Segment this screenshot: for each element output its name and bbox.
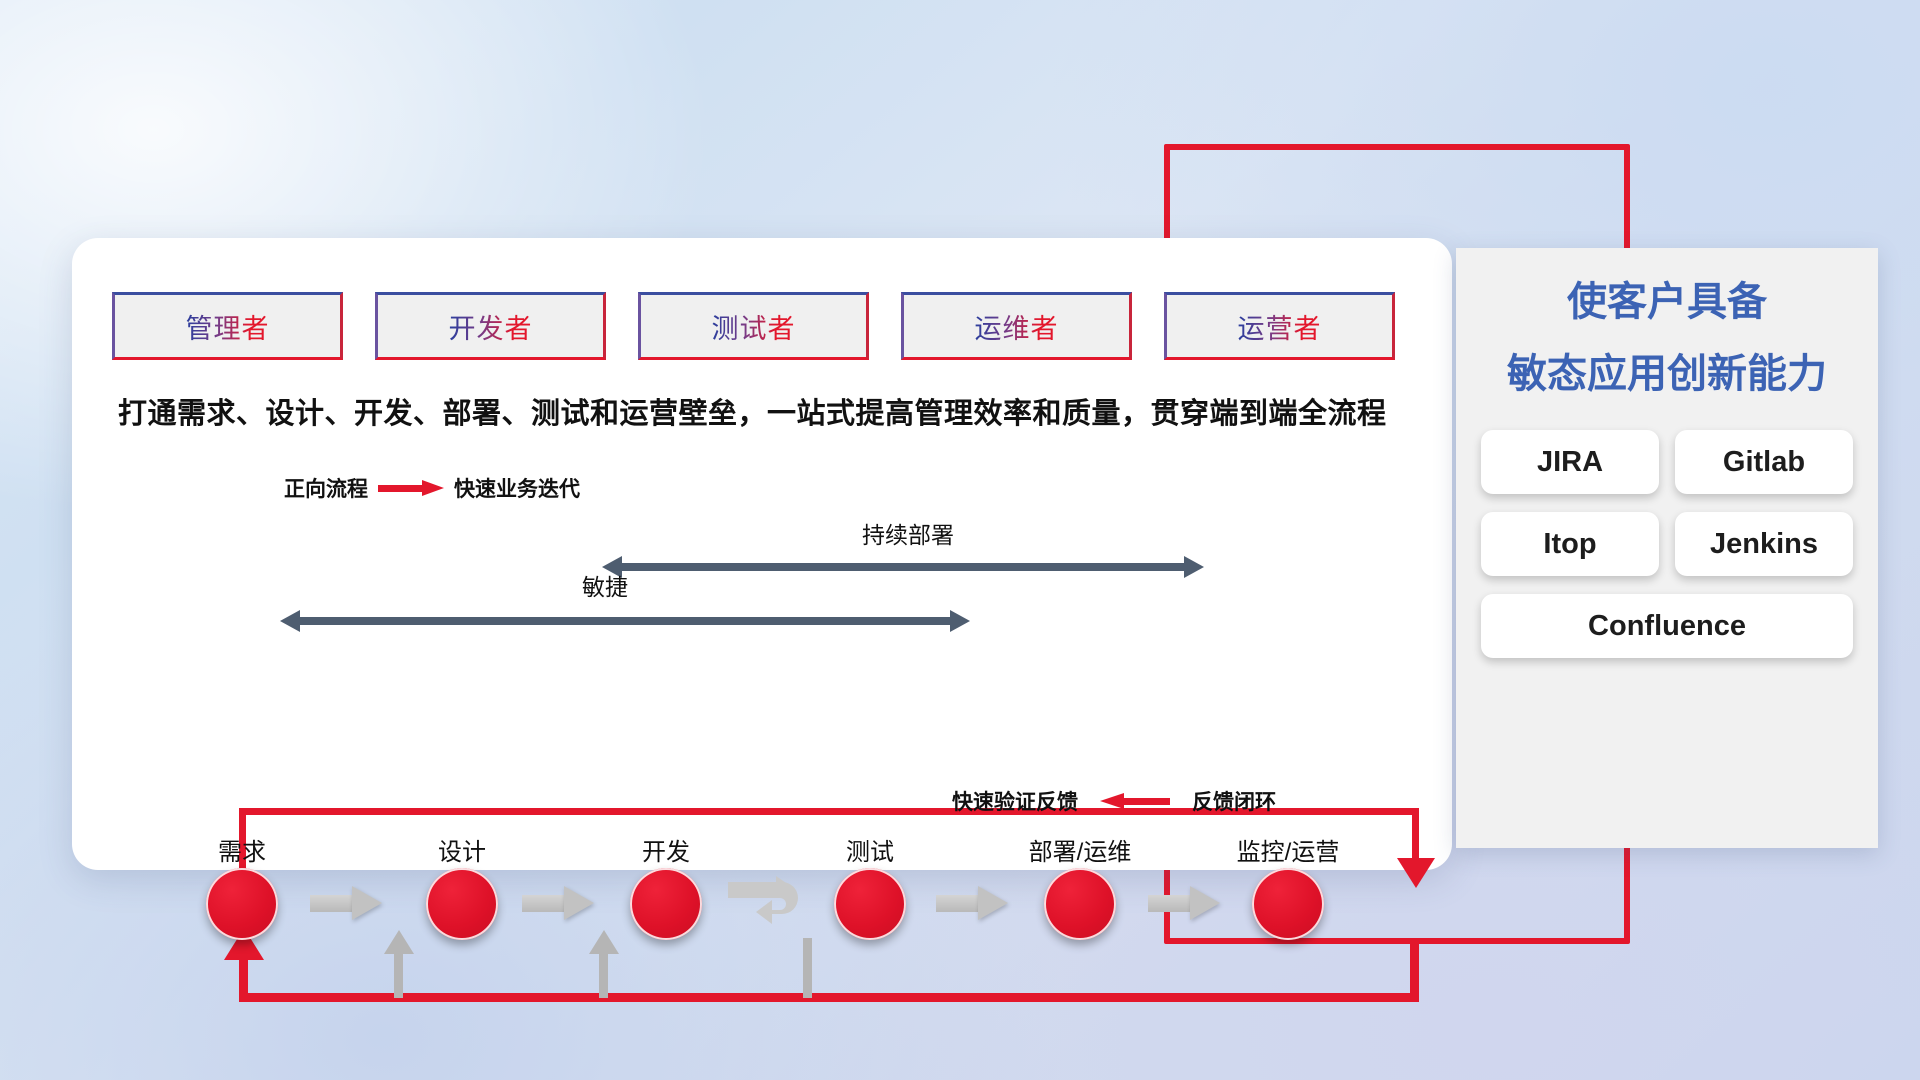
legend-forward-flow: 正向流程 快速业务迭代 [284, 473, 580, 503]
span-arrow-agile [280, 610, 970, 632]
outcome-title-line2: 敏态应用创新能力 [1456, 344, 1878, 404]
stage-circle-icon [206, 868, 278, 940]
role-label: 管理者 [186, 307, 270, 346]
stage-circle-icon [1252, 868, 1324, 940]
role-label: 测试者 [712, 307, 796, 346]
stage-label: 测试 [846, 832, 894, 867]
stage-node-deploy-ops[interactable]: 部署/运维 [1044, 868, 1116, 940]
role-box-tester[interactable]: 测试者 [638, 292, 869, 360]
legend-feedback-right-label: 反馈闭环 [1192, 786, 1276, 816]
stage-node-test[interactable]: 测试 [834, 868, 906, 940]
tool-chip-gitlab[interactable]: Gitlab [1675, 430, 1853, 494]
rail-bottom-right-red [1410, 938, 1419, 1000]
tool-chip-jira[interactable]: JIRA [1481, 430, 1659, 494]
stage-node-develop[interactable]: 开发 [630, 868, 702, 940]
stage-circle-icon [1044, 868, 1116, 940]
role-box-list: 管理者 开发者 测试者 运维者 运营者 [112, 292, 1395, 360]
rail-right-down-red [1412, 808, 1419, 864]
stage-label: 需求 [218, 832, 266, 867]
legend-forward-right-label: 快速业务迭代 [454, 473, 580, 503]
tick-stem-test [803, 938, 812, 998]
flow-arrow-2-icon [522, 886, 594, 920]
devops-flow-card: 管理者 开发者 测试者 运维者 运营者 打通需求、设计、开发、部署、测试和运营壁… [72, 238, 1452, 870]
role-label: 运营者 [1238, 307, 1322, 346]
tick-stem-design [394, 954, 403, 998]
stage-circle-icon [834, 868, 906, 940]
slide-canvas: 管理者 开发者 测试者 运维者 运营者 打通需求、设计、开发、部署、测试和运营壁… [0, 0, 1920, 1080]
arrow-right-red-icon [378, 480, 444, 496]
legend-forward-left-label: 正向流程 [284, 473, 368, 503]
uturn-loop-arrow-icon [724, 874, 820, 934]
outcome-title: 使客户具备 敏态应用创新能力 [1456, 272, 1878, 404]
arrow-left-red-icon [1100, 793, 1170, 809]
tool-chip-jenkins[interactable]: Jenkins [1675, 512, 1853, 576]
tool-chip-confluence[interactable]: Confluence [1481, 594, 1853, 658]
tick-head-develop [589, 930, 619, 954]
tick-head-design [384, 930, 414, 954]
stage-node-monitor-operate[interactable]: 监控/运营 [1252, 868, 1324, 940]
stage-node-requirement[interactable]: 需求 [206, 868, 278, 940]
span-label-agile: 敏捷 [582, 568, 628, 602]
outcome-title-line1: 使客户具备 [1456, 272, 1878, 332]
role-box-manager[interactable]: 管理者 [112, 292, 343, 360]
span-arrow-continuous-deployment [602, 556, 1204, 578]
role-box-developer[interactable]: 开发者 [375, 292, 606, 360]
outcome-panel: 使客户具备 敏态应用创新能力 JIRA Gitlab Itop Jenkins … [1456, 248, 1878, 848]
stage-label: 开发 [642, 832, 690, 867]
stage-circle-icon [630, 868, 702, 940]
span-label-continuous-deployment: 持续部署 [862, 516, 954, 550]
stage-label: 监控/运营 [1237, 832, 1340, 867]
flow-arrow-4-icon [1148, 886, 1220, 920]
rail-bottom-red [239, 993, 1419, 1002]
role-label: 开发者 [449, 307, 533, 346]
stage-label: 设计 [438, 832, 486, 867]
role-box-operations[interactable]: 运维者 [901, 292, 1132, 360]
flow-arrow-3-icon [936, 886, 1008, 920]
role-label: 运维者 [975, 307, 1059, 346]
stage-label: 部署/运维 [1029, 832, 1132, 867]
legend-feedback-left-label: 快速验证反馈 [952, 786, 1078, 816]
tick-stem-develop [599, 954, 608, 998]
stage-node-design[interactable]: 设计 [426, 868, 498, 940]
headline-text: 打通需求、设计、开发、部署、测试和运营壁垒，一站式提高管理效率和质量，贯穿端到端… [118, 390, 1418, 432]
legend-feedback-loop: 快速验证反馈 反馈闭环 [952, 786, 1276, 816]
rail-left-up-red [239, 956, 248, 1000]
tool-chip-itop[interactable]: Itop [1481, 512, 1659, 576]
role-box-business-ops[interactable]: 运营者 [1164, 292, 1395, 360]
stage-circle-icon [426, 868, 498, 940]
tool-chip-list: JIRA Gitlab Itop Jenkins Confluence [1474, 430, 1860, 658]
flow-arrow-1-icon [310, 886, 382, 920]
